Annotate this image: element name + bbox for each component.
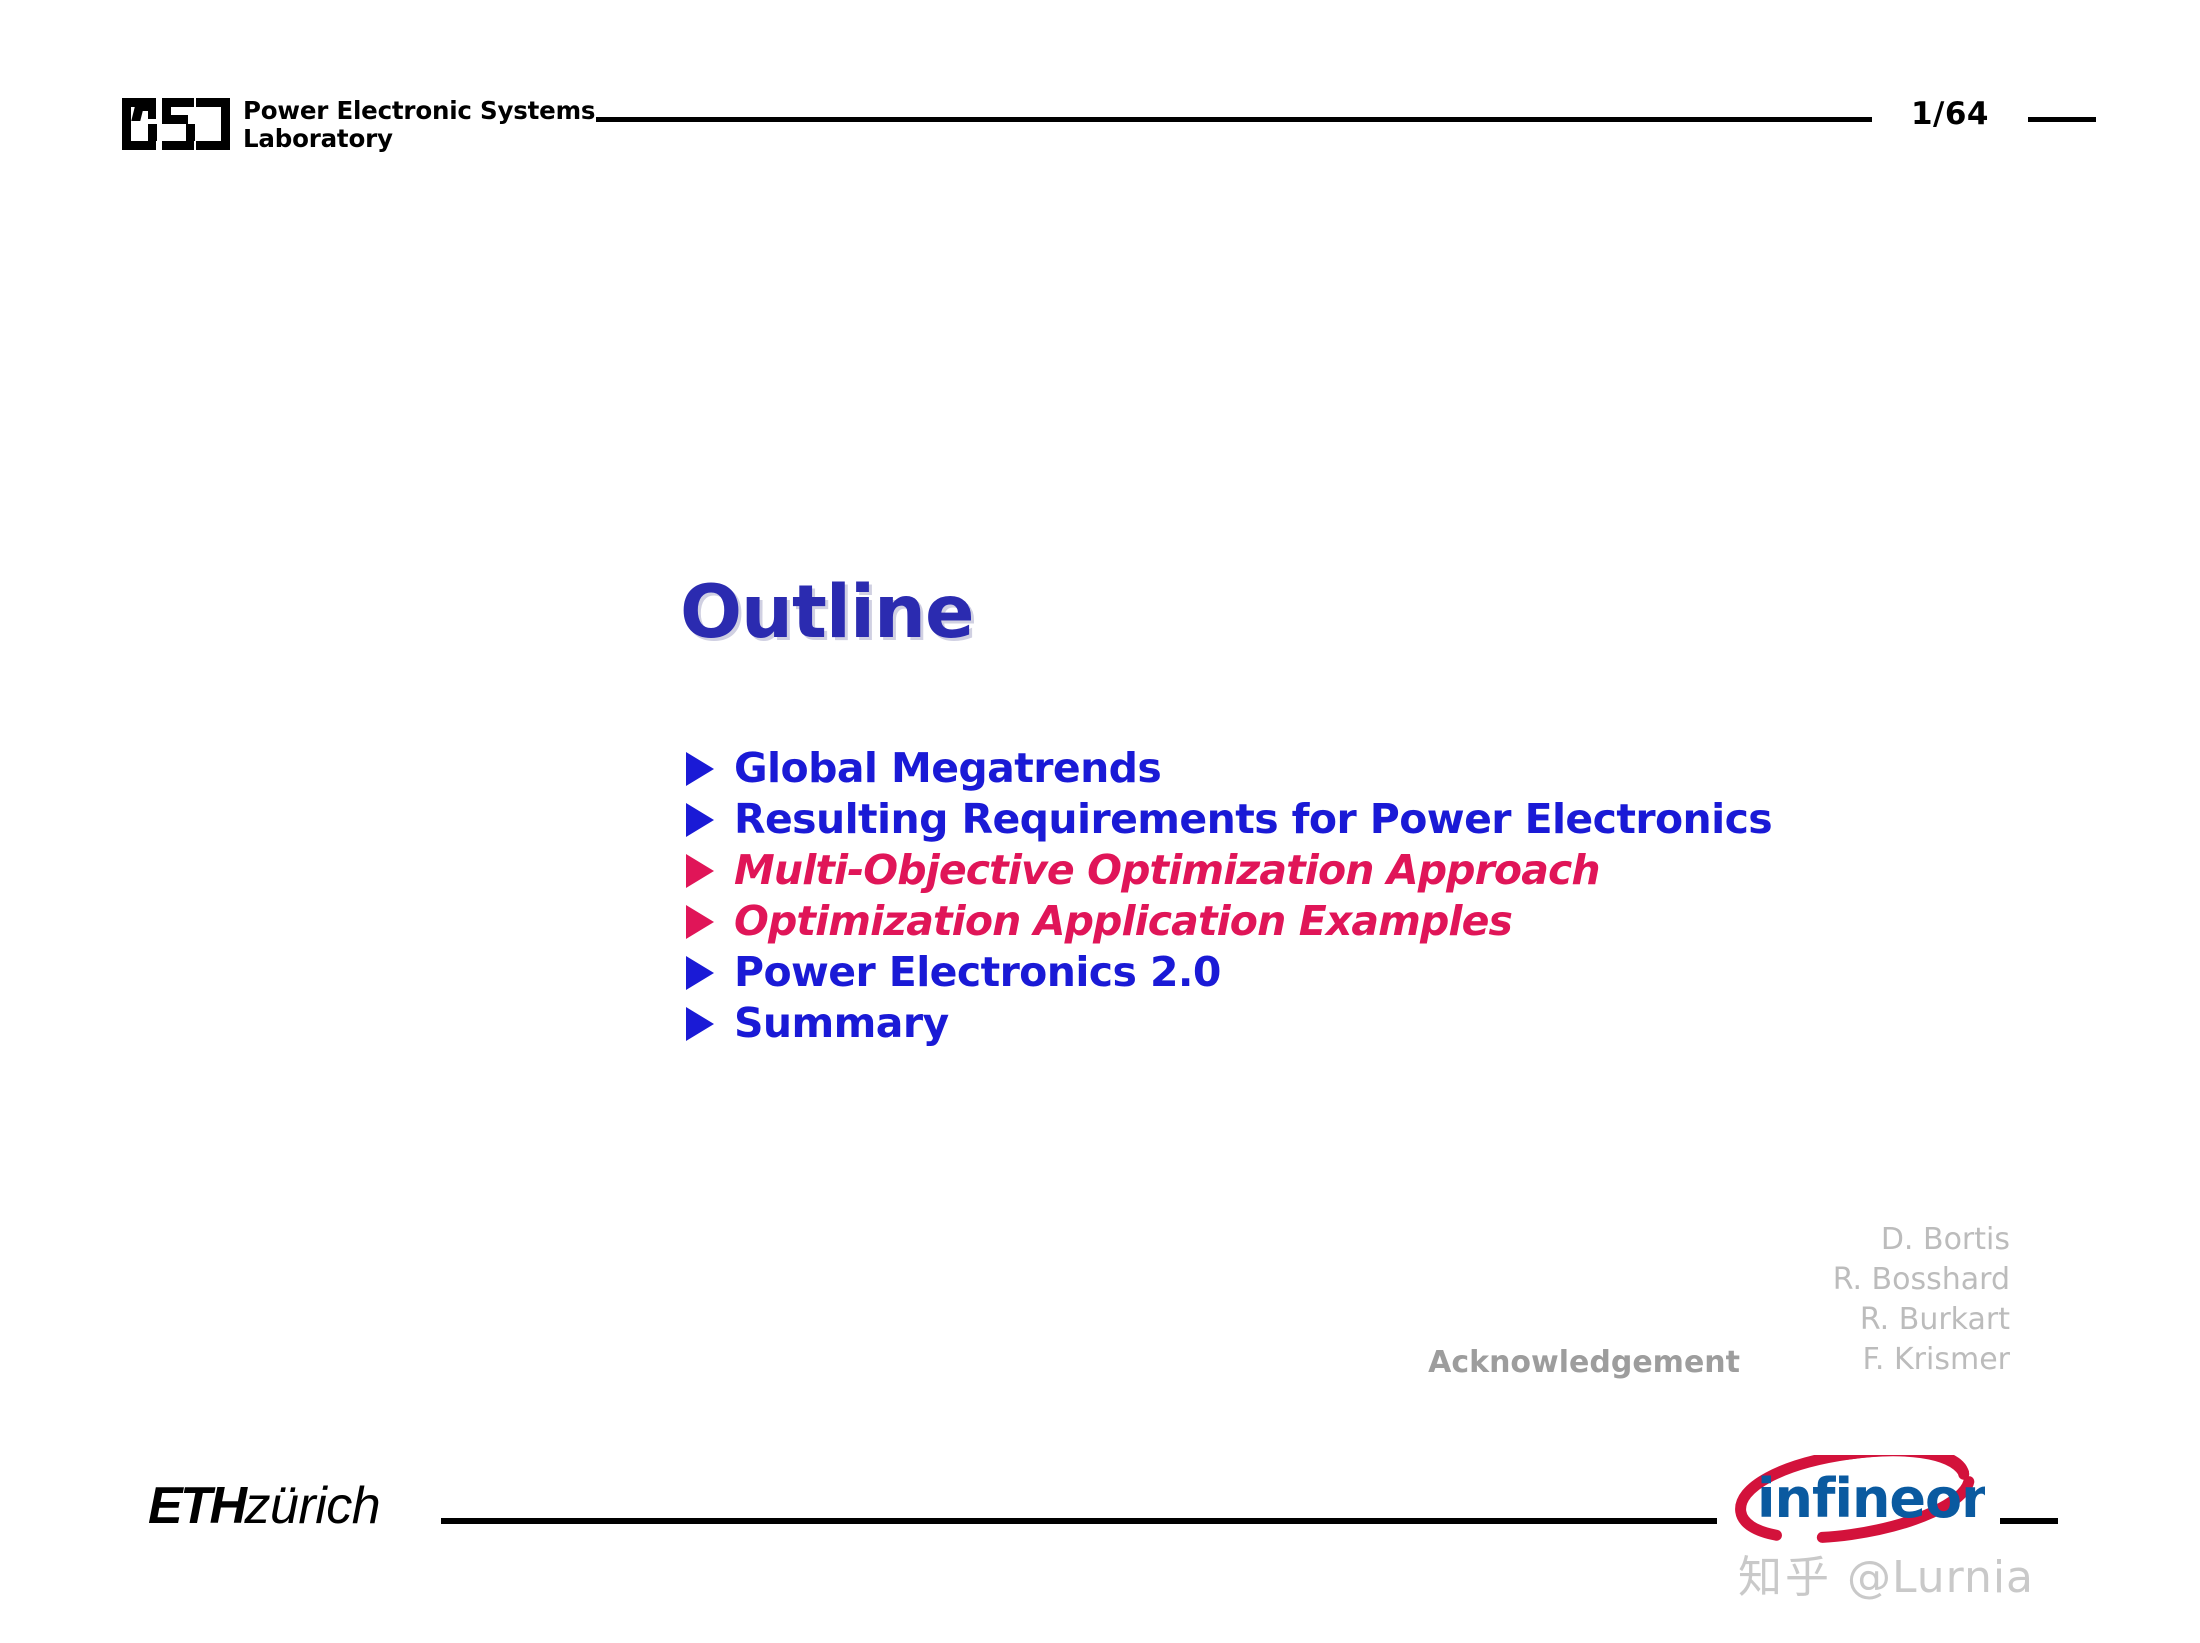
lab-name-line2: Laboratory	[243, 125, 595, 153]
footer-rule-right	[2000, 1518, 2058, 1524]
outline-item-resulting-requirements[interactable]: Resulting Requirements for Power Electro…	[686, 799, 1936, 850]
pes-logo-icon	[122, 98, 230, 150]
outline-item-label: Power Electronics 2.0	[734, 952, 1221, 993]
acknowledgement-block: Acknowledgement D. Bortis R. Bosshard R.…	[1380, 1220, 2010, 1380]
footer-rule-left	[441, 1518, 1717, 1524]
watermark-handle: @Lurnia	[1847, 1552, 2034, 1603]
outline-item-optimization-application-examples[interactable]: Optimization Application Examples	[686, 901, 1936, 952]
zurich-wordmark: zürich	[245, 1477, 381, 1535]
triangle-right-icon	[686, 956, 714, 990]
triangle-right-icon	[686, 1007, 714, 1041]
outline-item-summary[interactable]: Summary	[686, 1003, 1936, 1054]
page-title: Outline	[680, 570, 973, 655]
outline-item-label: Resulting Requirements for Power Electro…	[734, 799, 1772, 840]
infineon-logo: infineon	[1735, 1455, 1985, 1555]
outline-item-label: Summary	[734, 1003, 949, 1044]
zhihu-watermark: 知乎 @Lurnia	[1738, 1541, 2034, 1605]
acknowledgement-name: R. Burkart	[1833, 1300, 2010, 1340]
infineon-wordmark: infineon	[1757, 1467, 1985, 1530]
slide-canvas: Power Electronic Systems Laboratory 1/64…	[0, 0, 2200, 1643]
eth-wordmark: ETH	[148, 1477, 245, 1535]
watermark-site: 知乎	[1738, 1552, 1832, 1603]
outline-item-power-electronics-2-0[interactable]: Power Electronics 2.0	[686, 952, 1936, 1003]
acknowledgement-name: R. Bosshard	[1833, 1260, 2010, 1300]
triangle-right-icon	[686, 905, 714, 939]
outline-item-global-megatrends[interactable]: Global Megatrends	[686, 748, 1936, 799]
outline-list: Global Megatrends Resulting Requirements…	[686, 748, 1936, 1054]
acknowledgement-names: D. Bortis R. Bosshard R. Burkart F. Kris…	[1833, 1220, 2010, 1380]
acknowledgement-label: Acknowledgement	[1428, 1345, 1740, 1380]
outline-item-label: Global Megatrends	[734, 748, 1161, 789]
lab-name: Power Electronic Systems Laboratory	[243, 97, 595, 154]
header-rule-left	[596, 117, 1872, 122]
triangle-right-icon	[686, 803, 714, 837]
page-number: 1/64	[1890, 96, 2010, 132]
acknowledgement-name: F. Krismer	[1833, 1340, 2010, 1380]
triangle-right-icon	[686, 854, 714, 888]
triangle-right-icon	[686, 752, 714, 786]
outline-item-multi-objective-optimization[interactable]: Multi-Objective Optimization Approach	[686, 850, 1936, 901]
lab-name-line1: Power Electronic Systems	[243, 96, 595, 125]
slide-header: Power Electronic Systems Laboratory 1/64	[0, 0, 2200, 170]
outline-item-label: Multi-Objective Optimization Approach	[734, 850, 1600, 891]
header-rule-right	[2028, 117, 2096, 122]
eth-zurich-logo: ETHzürich	[148, 1480, 380, 1532]
outline-item-label: Optimization Application Examples	[734, 901, 1512, 942]
acknowledgement-name: D. Bortis	[1833, 1220, 2010, 1260]
